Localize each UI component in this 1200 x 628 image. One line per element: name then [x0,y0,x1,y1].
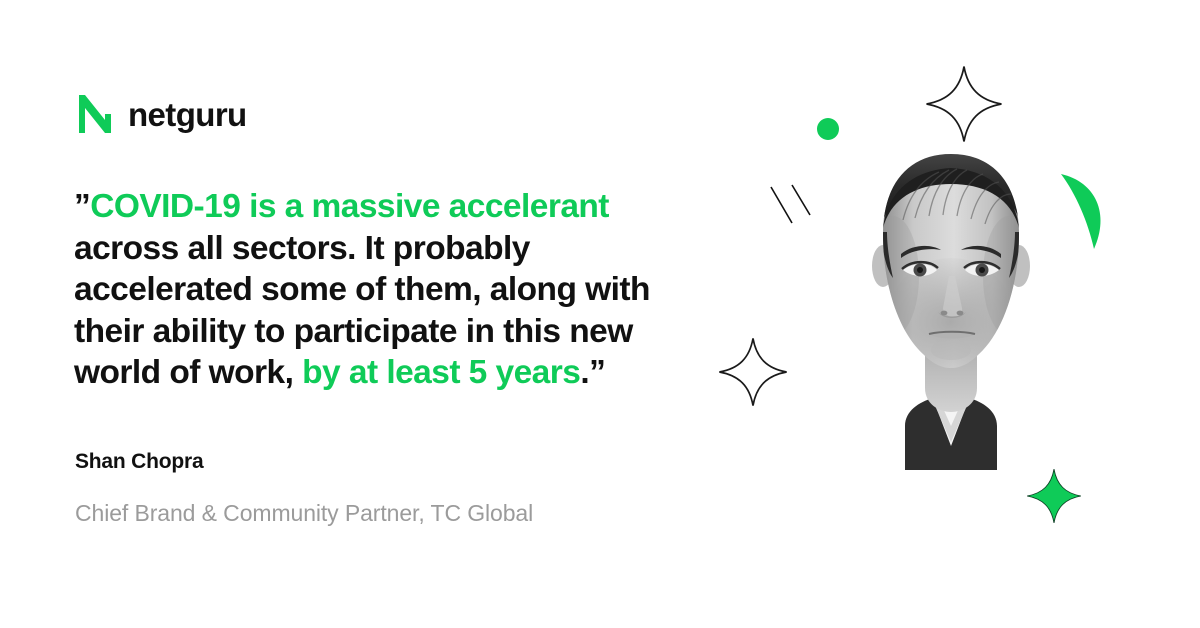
quote-line-3: accelerated some of them, along with [74,271,650,308]
quote-close-mark: .” [580,354,605,391]
green-dot-icon [817,118,839,140]
quote-line-2: across all sectors. It probably [74,230,530,267]
quote-card: netguru ”COVID-19 is a massive acceleran… [0,0,1200,628]
quote-line-5: world of work, [74,354,302,391]
netguru-wordmark: netguru [128,98,247,131]
netguru-n-mark-icon [76,94,114,134]
green-leaf-arc-icon [1058,170,1114,252]
sparkle-outline-middle-icon [718,335,788,409]
author-portrait [843,136,1059,470]
quote-line-4: their ability to participate in this new [74,313,633,350]
diagonal-slashes-icon [770,183,816,225]
quote-line-5-highlight: by at least 5 years [302,354,580,391]
quote-open-mark: ” [74,188,90,225]
quote-line-1-highlight: COVID-19 is a massive accelerant [90,188,609,225]
author-name: Shan Chopra [75,450,203,474]
sparkle-filled-green-icon [1026,466,1082,526]
quote-text: ”COVID-19 is a massive accelerant across… [74,186,734,394]
sparkle-outline-top-icon [925,63,1003,145]
author-role: Chief Brand & Community Partner, TC Glob… [75,500,533,527]
netguru-logo[interactable]: netguru [76,92,247,136]
